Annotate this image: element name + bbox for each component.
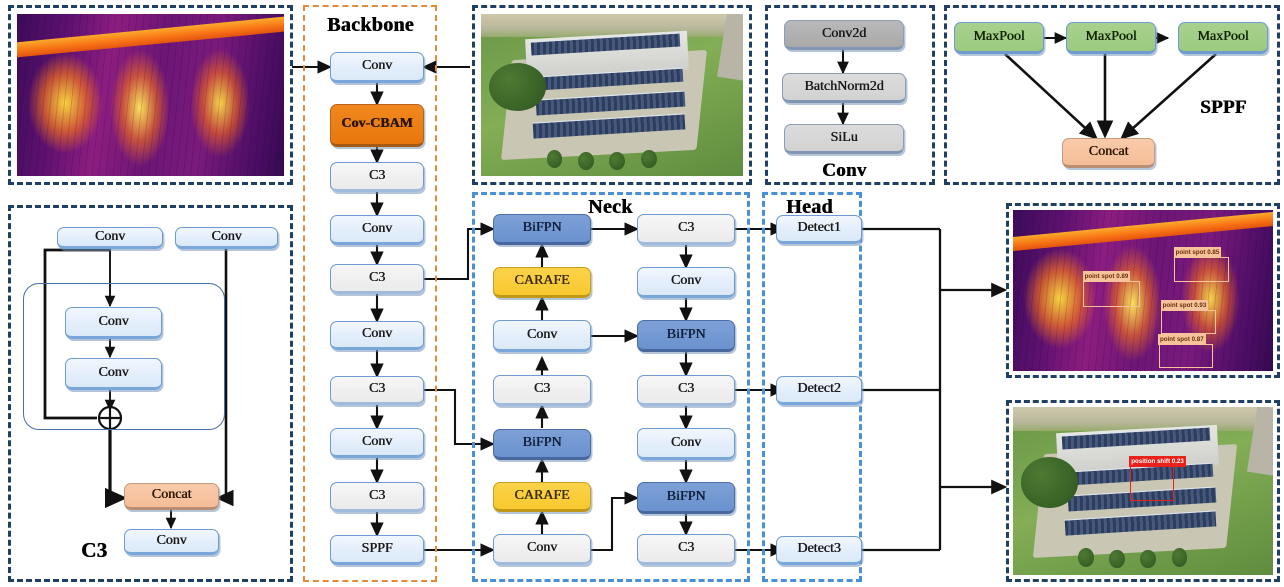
tree	[578, 152, 594, 170]
tree	[1109, 550, 1125, 568]
backbone-cov-cbam: Cov-CBAM	[330, 104, 424, 147]
sppf-maxpool-3: MaxPool	[1178, 22, 1268, 54]
conv-module-conv2d: Conv2d	[784, 20, 904, 50]
neck-c3-1: C3	[493, 375, 591, 406]
node-label: CARAFE	[494, 489, 590, 504]
backbone-title: Backbone	[327, 14, 414, 37]
node-label: BiFPN	[494, 221, 590, 236]
backbone-conv-2: Conv	[330, 215, 424, 245]
node-label: Conv	[58, 230, 162, 245]
sppf-maxpool-1: MaxPool	[954, 22, 1044, 54]
sppf-concat: Concat	[1062, 138, 1155, 168]
node-label: Conv	[331, 435, 423, 450]
head-detect-3: Detect3	[776, 536, 862, 565]
c3-bottleneck-conv-2: Conv	[65, 358, 162, 390]
backbone-c3-2: C3	[330, 264, 424, 294]
tree	[1078, 548, 1094, 566]
node-label: Conv	[494, 541, 590, 556]
node-label: MaxPool	[1179, 30, 1267, 45]
neck-bifpn-2: BiFPN	[493, 429, 591, 460]
node-label: Concat	[1063, 145, 1154, 160]
sppf-maxpool-2: MaxPool	[1066, 22, 1156, 54]
c3-conv-right: Conv	[175, 227, 278, 249]
neck-bifpn-4: BiFPN	[637, 482, 735, 514]
tree	[1172, 548, 1188, 566]
c3-bottleneck-conv-1: Conv	[65, 307, 162, 339]
node-label: BatchNorm2d	[783, 80, 905, 95]
node-label: Conv	[331, 327, 423, 342]
detection-label: point spot 0.93	[1161, 300, 1209, 311]
neck-carafe-1: CARAFE	[493, 267, 591, 298]
detection-box: position shift 0.23	[1130, 466, 1174, 501]
road	[1247, 407, 1273, 476]
node-label: C3	[331, 169, 423, 184]
tree	[641, 150, 657, 168]
node-label: C3	[331, 271, 423, 286]
head-detect-2: Detect2	[776, 376, 862, 405]
node-label: Conv	[638, 274, 734, 289]
detection-label: position shift 0.23	[1129, 456, 1186, 467]
node-label: Conv	[494, 328, 590, 343]
backbone-conv-4: Conv	[330, 428, 424, 458]
node-label: Conv	[66, 315, 161, 330]
node-label: C3	[638, 541, 734, 556]
conv-module-batchnorm2d: BatchNorm2d	[782, 73, 906, 103]
node-label: C3	[331, 382, 423, 397]
neck-c3-3: C3	[637, 375, 735, 406]
output-thermal-panel: point spot 0.89 point spot 0.85 point sp…	[1006, 203, 1280, 378]
node-label: Detect3	[777, 542, 861, 557]
node-label: C3	[494, 382, 590, 397]
sppf-module-title: SPPF	[1200, 97, 1247, 119]
tree	[1140, 550, 1156, 568]
c3-conv-left: Conv	[57, 227, 163, 249]
neck-carafe-2: CARAFE	[493, 482, 591, 512]
neck-c3-4: C3	[637, 534, 735, 565]
input-rgb-panel	[472, 5, 752, 185]
neck-bifpn-3: BiFPN	[637, 320, 735, 352]
neck-conv-2: Conv	[493, 534, 591, 565]
output-rgb-panel: position shift 0.23	[1006, 400, 1280, 582]
node-label: Cov-CBAM	[331, 117, 423, 132]
neck-conv-3: Conv	[637, 267, 735, 298]
node-label: C3	[638, 221, 734, 236]
node-label: BiFPN	[638, 490, 734, 505]
node-label: Conv2d	[785, 27, 903, 42]
node-label: Conv	[125, 534, 218, 549]
node-label: Conv	[638, 436, 734, 451]
node-label: C3	[331, 489, 423, 504]
node-label: Concat	[125, 488, 218, 503]
node-label: MaxPool	[955, 30, 1043, 45]
node-label: BiFPN	[494, 436, 590, 451]
neck-conv-4: Conv	[637, 428, 735, 460]
node-label: Conv	[331, 59, 423, 74]
node-label: SPPF	[331, 542, 423, 557]
node-label: C3	[638, 382, 734, 397]
tree	[609, 152, 625, 170]
detection-box: point spot 0.93	[1161, 310, 1216, 334]
tree	[1021, 457, 1078, 507]
backbone-c3-4: C3	[330, 482, 424, 512]
detection-box: point spot 0.87	[1159, 344, 1214, 368]
neck-title: Neck	[588, 196, 633, 219]
neck-conv-1: Conv	[493, 320, 591, 352]
backbone-c3-1: C3	[330, 162, 424, 192]
detection-box: point spot 0.89	[1083, 281, 1140, 307]
backbone-c3-3: C3	[330, 376, 424, 405]
head-detect-1: Detect1	[776, 215, 862, 244]
node-label: SiLu	[785, 131, 903, 146]
backbone-sppf: SPPF	[330, 535, 424, 565]
input-thermal-image	[17, 14, 284, 176]
c3-module-panel: C3	[8, 205, 293, 582]
node-label: BiFPN	[638, 328, 734, 343]
node-label: Detect2	[777, 382, 861, 397]
detection-box: point spot 0.85	[1174, 257, 1229, 283]
node-label: Conv	[331, 222, 423, 237]
output-rgb-image: position shift 0.23	[1013, 407, 1273, 575]
backbone-conv-1: Conv	[330, 52, 424, 83]
backbone-conv-3: Conv	[330, 321, 424, 350]
detection-label: point spot 0.85	[1174, 247, 1222, 258]
conv-module-silu: SiLu	[784, 124, 904, 154]
detection-label: point spot 0.89	[1083, 271, 1131, 282]
node-label: Conv	[66, 366, 161, 381]
node-label: MaxPool	[1067, 30, 1155, 45]
node-label: CARAFE	[494, 274, 590, 289]
detection-label: point spot 0.87	[1158, 334, 1206, 345]
c3-output-conv: Conv	[124, 529, 219, 555]
tree	[547, 150, 563, 168]
output-thermal-image: point spot 0.89 point spot 0.85 point sp…	[1013, 210, 1273, 371]
road	[717, 14, 743, 80]
input-rgb-image	[481, 14, 743, 176]
c3-bottleneck-outline	[23, 283, 225, 430]
input-thermal-panel	[8, 5, 293, 185]
neck-c3-2: C3	[637, 214, 735, 245]
node-label: Detect1	[777, 221, 861, 236]
c3-module-title: C3	[81, 538, 107, 563]
node-label: Conv	[176, 230, 277, 245]
neck-bifpn-1: BiFPN	[493, 214, 591, 245]
conv-module-title: Conv	[822, 160, 867, 182]
architecture-diagram: C3 Conv Conv Conv Conv Concat Conv Backb…	[0, 0, 1284, 587]
c3-concat: Concat	[124, 483, 219, 510]
